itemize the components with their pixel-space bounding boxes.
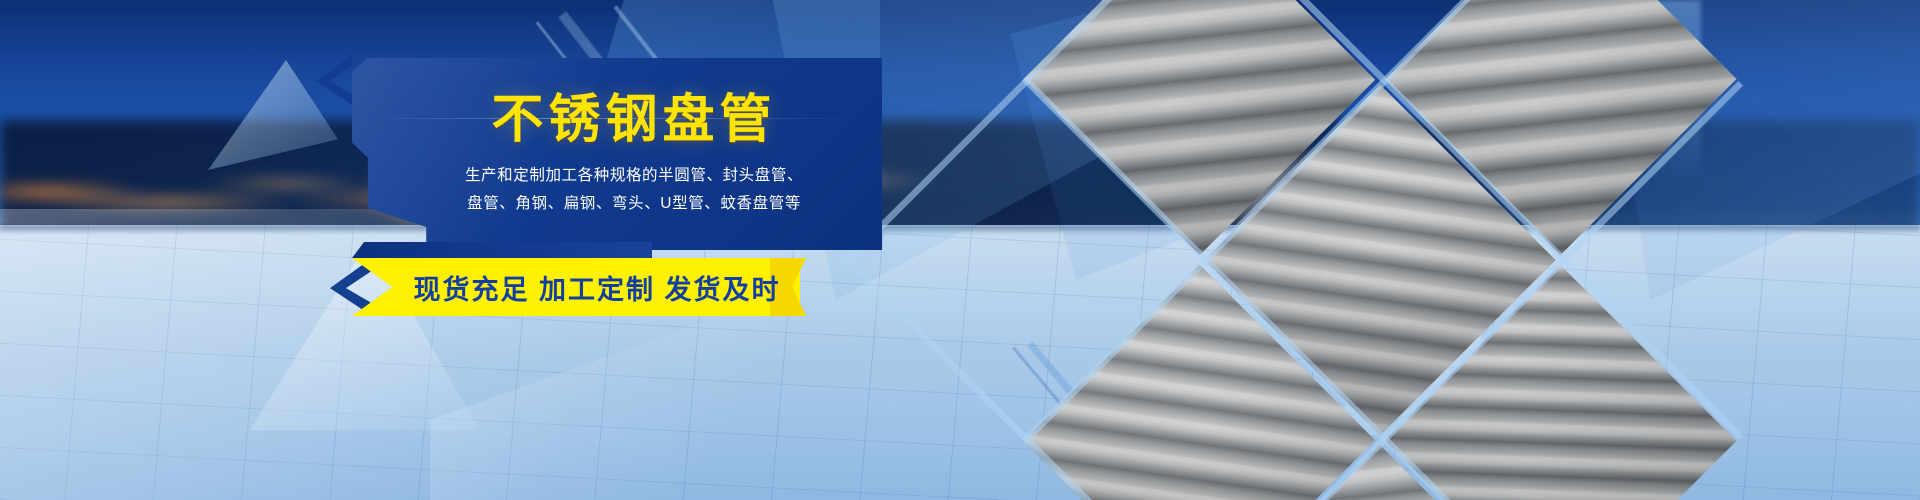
headline-content: 不锈钢盘管 生产和定制加工各种规格的半圆管、封头盘管、 盘管、角钢、扁钢、弯头、… <box>352 58 882 250</box>
subtitle-line-1: 生产和定制加工各种规格的半圆管、封头盘管、 <box>465 162 803 191</box>
product-banner: 不锈钢盘管 生产和定制加工各种规格的半圆管、封头盘管、 盘管、角钢、扁钢、弯头、… <box>0 0 1920 500</box>
ribbon-label: 现货充足 加工定制 发货及时 <box>352 258 800 316</box>
page-title: 不锈钢盘管 <box>491 93 776 148</box>
subtitle-line-2: 盘管、角钢、扁钢、弯头、U型管、蚊香盘管等 <box>467 190 801 219</box>
